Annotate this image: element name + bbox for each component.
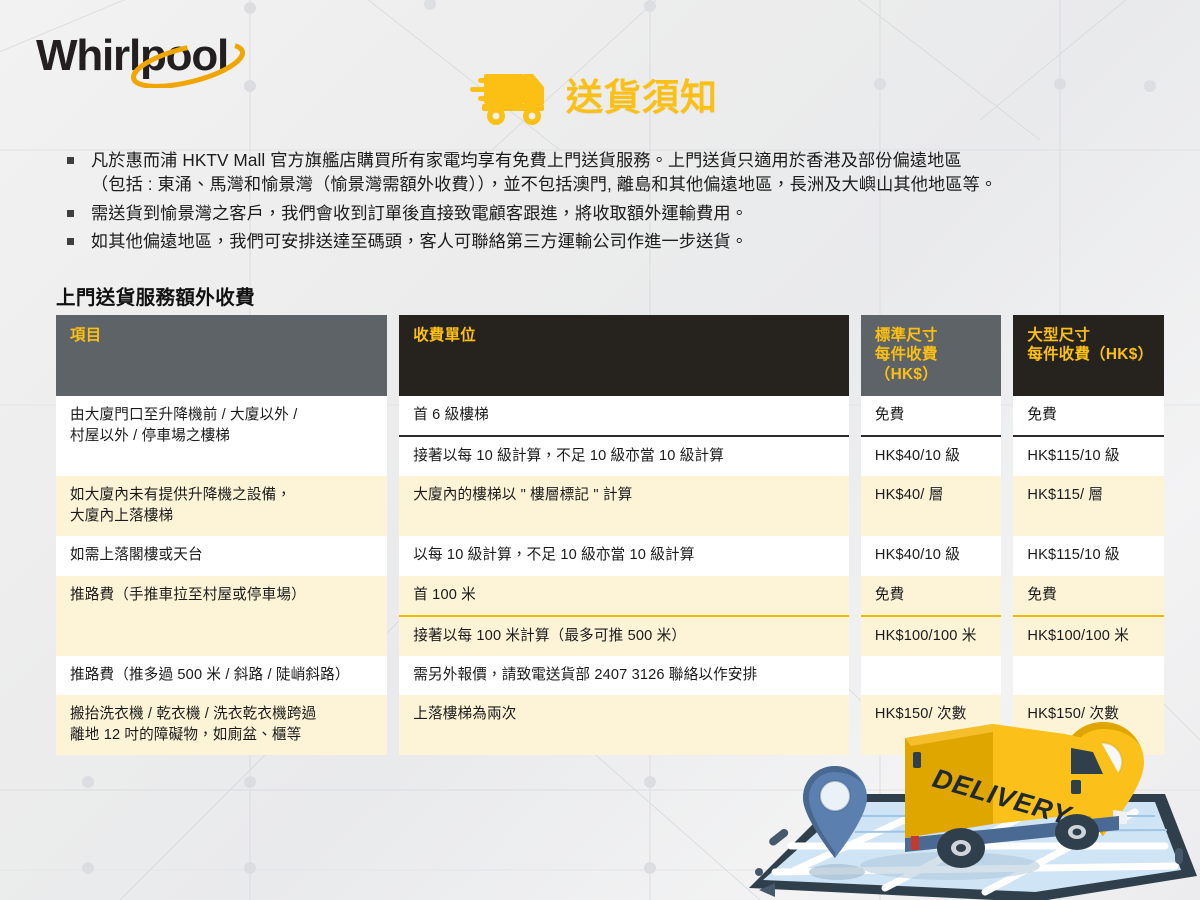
cell-sub-bottom: HK$100/100 米 <box>1013 617 1164 656</box>
note-line-1: 如其他偏遠地區，我們可安排送達至碼頭，客人可聯絡第三方運輸公司作進一步送貨。 <box>91 231 748 251</box>
logo-swoosh-icon <box>124 42 252 88</box>
column-header-large: 大型尺寸 每件收費（HK$） <box>1013 315 1164 396</box>
note-text: 如其他偏遠地區，我們可安排送達至碼頭，客人可聯絡第三方運輸公司作進一步送貨。 <box>91 229 748 253</box>
cell-sub-top: 免費 <box>1013 396 1164 437</box>
cell-item: 推路費（推多過 500 米 / 斜路 / 陡峭斜路） <box>56 656 387 695</box>
table-row: 推路費（手推車拉至村屋或停車場） 首 100 米 接著以每 100 米計算（最多… <box>56 576 1164 656</box>
delivery-notes-list: 凡於惠而浦 HKTV Mall 官方旗艦店購買所有家電均享有免費上門送貨服務。上… <box>58 148 1168 258</box>
cell-sub-bottom: HK$100/100 米 <box>861 617 1002 656</box>
bullet-square-icon <box>67 238 74 245</box>
header-line-1: 標準尺寸 <box>875 326 988 345</box>
cell-unit: 首 100 米 接著以每 100 米計算（最多可推 500 米） <box>399 576 849 656</box>
cell-unit: 大廈內的樓梯以 " 樓層標記 " 計算 <box>399 476 849 536</box>
cell-sub-bottom: 接著以每 10 級計算，不足 10 級亦當 10 級計算 <box>399 437 849 476</box>
header-line-2: 每件收費（HK$） <box>1027 345 1150 364</box>
slide-canvas: Whirlpool 送貨須知 凡於惠而浦 H <box>0 0 1200 900</box>
note-text: 需送貨到愉景灣之客戶，我們會收到訂單後直接致電顧客跟進，將收取額外運輸費用。 <box>91 201 748 225</box>
section-heading: 上門送貨服務額外收費 <box>56 281 255 310</box>
table-row: 由大廈門口至升降機前 / 大廈以外 / 村屋以外 / 停車場之樓梯 首 6 級樓… <box>56 396 1164 476</box>
column-header-standard: 標準尺寸 每件收費（HK$） <box>861 315 1002 396</box>
delivery-truck-icon <box>466 68 558 126</box>
cell-sub-bottom: 接著以每 100 米計算（最多可推 500 米） <box>399 617 849 656</box>
cell-large-price: 免費 HK$115/10 級 <box>1013 396 1164 476</box>
cell-sub-top: 首 6 級樓梯 <box>399 396 849 437</box>
extra-fee-table: 項目 收費單位 標準尺寸 每件收費（HK$） 大型尺寸 每件收費（HK$） <box>44 315 1176 755</box>
cell-item: 如需上落閣樓或天台 <box>56 536 387 575</box>
cell-item: 搬抬洗衣機 / 乾衣機 / 洗衣乾衣機跨過 離地 12 吋的障礙物，如廁盆、櫃等 <box>56 695 387 755</box>
list-item: 如其他偏遠地區，我們可安排送達至碼頭，客人可聯絡第三方運輸公司作進一步送貨。 <box>58 229 1168 253</box>
column-header-unit: 收費單位 <box>399 315 849 396</box>
cell-standard-price: HK$40/10 級 <box>861 536 1002 575</box>
cell-item: 推路費（手推車拉至村屋或停車場） <box>56 576 387 656</box>
cell-sub-top: 免費 <box>861 396 1002 437</box>
table-row: 推路費（推多過 500 米 / 斜路 / 陡峭斜路） 需另外報價，請致電送貨部 … <box>56 656 1164 695</box>
cell-sub-top: 免費 <box>1013 576 1164 617</box>
cell-item: 如大廈內未有提供升降機之設備， 大廈內上落樓梯 <box>56 476 387 536</box>
cell-large-price: HK$115/10 級 <box>1013 536 1164 575</box>
cell-line-2: 村屋以外 / 停車場之樓梯 <box>70 426 373 447</box>
cell-sub-top: 首 100 米 <box>399 576 849 617</box>
extra-fee-table-wrapper: 項目 收費單位 標準尺寸 每件收費（HK$） 大型尺寸 每件收費（HK$） <box>56 315 1164 755</box>
cell-line-2: 大廈內上落樓梯 <box>70 506 373 527</box>
cell-line-2: 離地 12 吋的障礙物，如廁盆、櫃等 <box>70 725 373 746</box>
cell-standard-price <box>861 656 1002 695</box>
cell-sub-top: 免費 <box>861 576 1002 617</box>
cell-standard-price: 免費 HK$100/100 米 <box>861 576 1002 656</box>
cell-line-1: 如大廈內未有提供升降機之設備， <box>70 485 373 506</box>
bullet-square-icon <box>67 157 74 164</box>
cell-sub-bottom: HK$115/10 級 <box>1013 437 1164 476</box>
table-row: 如大廈內未有提供升降機之設備， 大廈內上落樓梯 大廈內的樓梯以 " 樓層標記 "… <box>56 476 1164 536</box>
table-header-row: 項目 收費單位 標準尺寸 每件收費（HK$） 大型尺寸 每件收費（HK$） <box>56 315 1164 396</box>
cell-unit: 需另外報價，請致電送貨部 2407 3126 聯絡以作安排 <box>399 656 849 695</box>
cell-unit: 首 6 級樓梯 接著以每 10 級計算，不足 10 級亦當 10 級計算 <box>399 396 849 476</box>
page-title-block: 送貨須知 <box>466 68 718 126</box>
cell-line-1: 由大廈門口至升降機前 / 大廈以外 / <box>70 405 373 426</box>
cell-line-1: 搬抬洗衣機 / 乾衣機 / 洗衣乾衣機跨過 <box>70 704 373 725</box>
cell-standard-price: HK$40/ 層 <box>861 476 1002 536</box>
cell-large-price: HK$115/ 層 <box>1013 476 1164 536</box>
column-header-item: 項目 <box>56 315 387 396</box>
cell-unit: 以每 10 級計算，不足 10 級亦當 10 級計算 <box>399 536 849 575</box>
note-text: 凡於惠而浦 HKTV Mall 官方旗艦店購買所有家電均享有免費上門送貨服務。上… <box>91 148 997 197</box>
note-line-1: 需送貨到愉景灣之客戶，我們會收到訂單後直接致電顧客跟進，將收取額外運輸費用。 <box>91 203 748 223</box>
table-row: 如需上落閣樓或天台 以每 10 級計算，不足 10 級亦當 10 級計算 HK$… <box>56 536 1164 575</box>
list-item: 凡於惠而浦 HKTV Mall 官方旗艦店購買所有家電均享有免費上門送貨服務。上… <box>58 148 1168 197</box>
header-line-1: 大型尺寸 <box>1027 326 1150 345</box>
list-item: 需送貨到愉景灣之客戶，我們會收到訂單後直接致電顧客跟進，將收取額外運輸費用。 <box>58 201 1168 225</box>
page-title: 送貨須知 <box>566 79 718 116</box>
header-line-2: 每件收費（HK$） <box>875 345 988 384</box>
note-line-1: 凡於惠而浦 HKTV Mall 官方旗艦店購買所有家電均享有免費上門送貨服務。上… <box>91 150 962 170</box>
cell-large-price <box>1013 656 1164 695</box>
bullet-square-icon <box>67 210 74 217</box>
cell-sub-bottom: HK$40/10 級 <box>861 437 1002 476</box>
delivery-truck-on-map-illustration: DELIVERY <box>735 720 1200 900</box>
cell-large-price: 免費 HK$100/100 米 <box>1013 576 1164 656</box>
note-line-2: （包括 : 東涌、馬灣和愉景灣（愉景灣需額外收費）），並不包括澳門, 離島和其他… <box>91 172 997 196</box>
cell-standard-price: 免費 HK$40/10 級 <box>861 396 1002 476</box>
whirlpool-logo: Whirlpool <box>36 28 266 90</box>
cell-item: 由大廈門口至升降機前 / 大廈以外 / 村屋以外 / 停車場之樓梯 <box>56 396 387 476</box>
